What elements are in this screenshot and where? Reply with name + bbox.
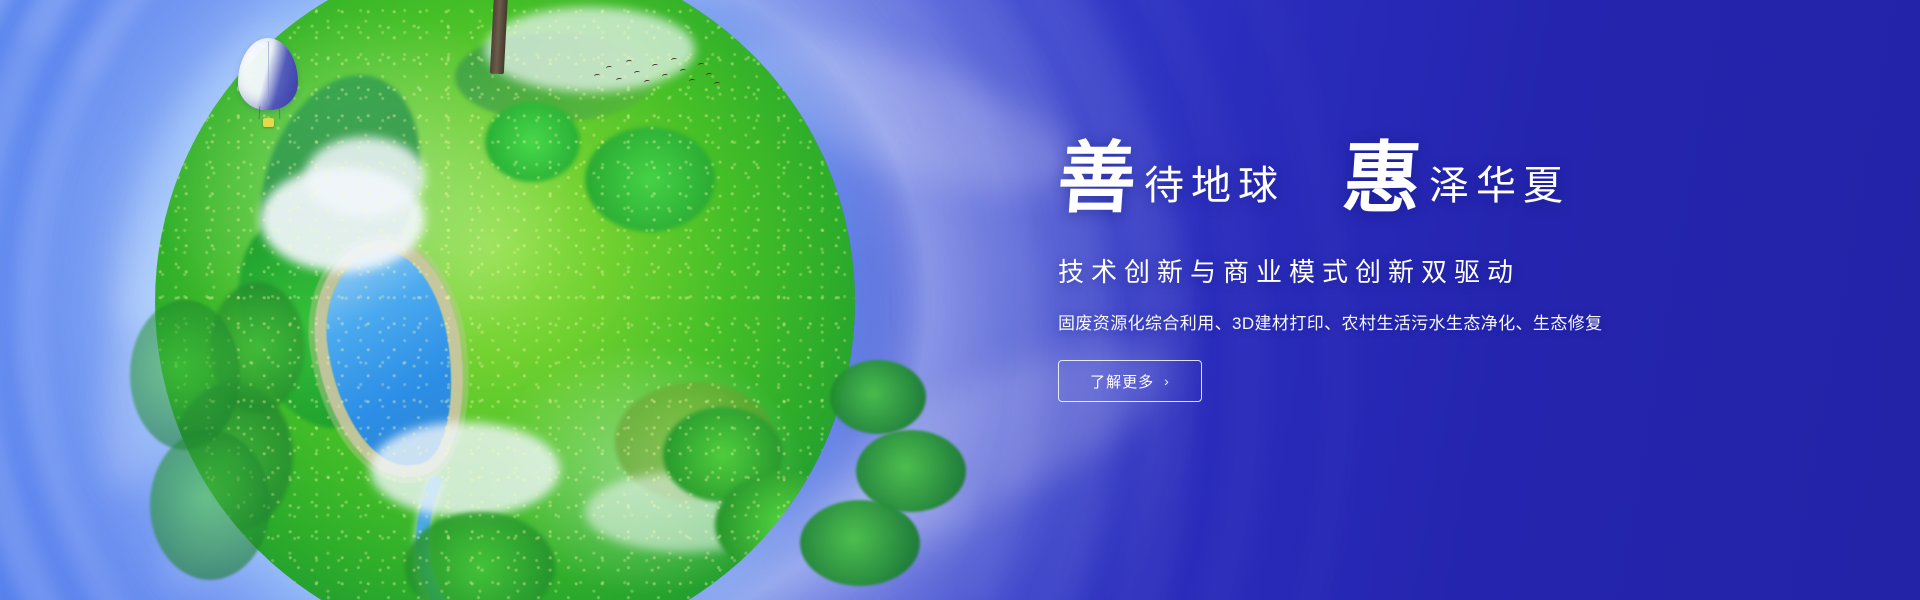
tree-icon bbox=[663, 407, 783, 502]
headline-part1-big: 善 bbox=[1055, 140, 1138, 218]
cloud-icon bbox=[305, 137, 425, 217]
river-shape bbox=[349, 241, 855, 600]
tree-icon bbox=[830, 360, 926, 434]
forest-patch bbox=[585, 127, 715, 232]
hot-air-balloon-icon bbox=[238, 38, 298, 130]
page-title: 善 待地球 惠 泽华夏 bbox=[1058, 140, 1698, 236]
forest-patch bbox=[615, 382, 775, 502]
headline-part1-small: 待地球 bbox=[1144, 153, 1285, 211]
cloud-icon bbox=[585, 472, 785, 552]
hero-banner: 善 待地球 惠 泽华夏 技术创新与商业模式创新双驱动 固废资源化综合利用、3D建… bbox=[0, 0, 1920, 600]
tree-icon bbox=[130, 300, 240, 450]
cloud-icon bbox=[370, 422, 560, 517]
headline-part2-small: 泽华夏 bbox=[1429, 153, 1570, 211]
tree-icon bbox=[150, 430, 270, 580]
forest-patch bbox=[212, 201, 408, 447]
chevron-right-icon: › bbox=[1164, 373, 1170, 389]
bird-flock-icon bbox=[592, 52, 722, 92]
banner-description: 固废资源化综合利用、3D建材打印、农村生活污水生态净化、生态修复 bbox=[1058, 309, 1698, 334]
tree-icon bbox=[800, 500, 920, 586]
learn-more-label: 了解更多 bbox=[1090, 371, 1154, 392]
banner-copy: 善 待地球 惠 泽华夏 技术创新与商业模式创新双驱动 固废资源化综合利用、3D建… bbox=[1058, 140, 1698, 402]
lake-shape bbox=[316, 245, 465, 475]
forest-patch bbox=[485, 102, 580, 182]
banner-subtitle: 技术创新与商业模式创新双驱动 bbox=[1058, 252, 1698, 289]
river-shape bbox=[357, 249, 855, 600]
headline-part2-big: 惠 bbox=[1340, 140, 1423, 218]
cloud-icon bbox=[260, 167, 425, 272]
learn-more-button[interactable]: 了解更多 › bbox=[1058, 360, 1202, 402]
tree-icon bbox=[405, 512, 555, 600]
